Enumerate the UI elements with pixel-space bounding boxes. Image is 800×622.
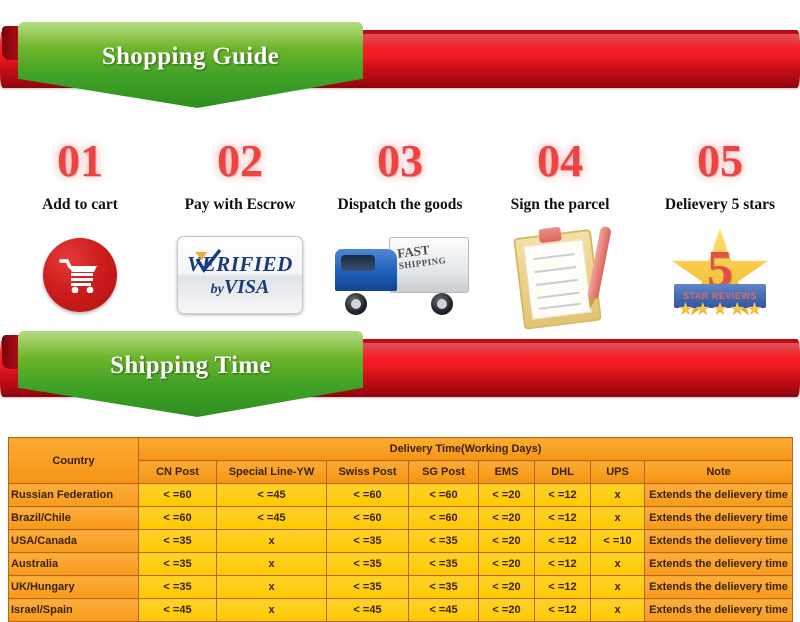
checkmark-icon bbox=[194, 249, 222, 275]
cell-country: Brazil/Chile bbox=[9, 507, 139, 530]
cell-value: < =45 bbox=[327, 599, 409, 622]
table-row: Australia< =35x< =35< =35< =20< =12xExte… bbox=[9, 553, 793, 576]
column-header-swiss-post: Swiss Post bbox=[327, 461, 409, 484]
step-04: 04 Sign the parcel bbox=[480, 132, 640, 332]
visa-brand-text: VISA bbox=[224, 276, 270, 298]
cell-value: < =60 bbox=[327, 507, 409, 530]
column-header-sg-post: SG Post bbox=[409, 461, 479, 484]
column-header-country: Country bbox=[9, 438, 139, 484]
cell-value: < =35 bbox=[327, 530, 409, 553]
mini-star-icon bbox=[713, 302, 728, 316]
clipboard-pen-icon bbox=[512, 222, 607, 328]
cell-value: < =20 bbox=[479, 484, 535, 507]
mini-stars-row bbox=[678, 302, 762, 316]
paper-line bbox=[534, 266, 576, 273]
five-star-review-icon: 5 STAR REVIEWS bbox=[668, 228, 772, 322]
cell-value: < =35 bbox=[409, 530, 479, 553]
step-label: Sign the parcel bbox=[480, 196, 640, 214]
cell-value: x bbox=[217, 599, 327, 622]
cell-note: Extends the delievery time bbox=[645, 599, 793, 622]
step-artwork bbox=[0, 226, 160, 324]
cell-note: Extends the delievery time bbox=[645, 553, 793, 576]
step-05: 05 Delievery 5 stars 5 STAR REVIEWS bbox=[640, 132, 800, 332]
paper-line bbox=[538, 292, 580, 299]
cell-note: Extends the delievery time bbox=[645, 576, 793, 599]
column-header-ems: EMS bbox=[479, 461, 535, 484]
cell-value: < =20 bbox=[479, 553, 535, 576]
truck-wheel-rear bbox=[431, 293, 453, 315]
cell-value: < =20 bbox=[479, 507, 535, 530]
step-number: 02 bbox=[160, 138, 320, 184]
cell-note: Extends the delievery time bbox=[645, 484, 793, 507]
shipping-time-table-wrap: Country Delivery Time(Working Days) CN P… bbox=[8, 437, 792, 622]
cell-value: < =12 bbox=[535, 576, 591, 599]
step-artwork: VERIFIED byVISA bbox=[160, 226, 320, 324]
step-01: 01 Add to cart bbox=[0, 132, 160, 332]
cell-value: x bbox=[591, 484, 645, 507]
cell-value: x bbox=[591, 599, 645, 622]
step-02: 02 Pay with Escrow VERIFIED byVISA bbox=[160, 132, 320, 332]
step-number: 05 bbox=[640, 138, 800, 184]
shopping-guide-title: Shopping Guide bbox=[18, 22, 363, 92]
table-header-row-1: Country Delivery Time(Working Days) bbox=[9, 438, 793, 461]
cell-value: < =35 bbox=[139, 530, 217, 553]
paper-line bbox=[539, 303, 581, 310]
cell-value: < =20 bbox=[479, 599, 535, 622]
paper-line bbox=[536, 279, 578, 286]
table-row: Israel/Spain< =45x< =45< =45< =20< =12xE… bbox=[9, 599, 793, 622]
truck-wheel-front bbox=[345, 293, 367, 315]
cell-value: < =60 bbox=[139, 484, 217, 507]
cell-value: < =45 bbox=[217, 507, 327, 530]
cell-value: < =35 bbox=[327, 576, 409, 599]
visa-by-text: by bbox=[211, 282, 224, 297]
mini-star-icon bbox=[695, 302, 710, 316]
column-header-note: Note bbox=[645, 461, 793, 484]
cell-country: Russian Federation bbox=[9, 484, 139, 507]
cell-value: < =60 bbox=[409, 484, 479, 507]
clipboard-board bbox=[513, 229, 602, 330]
column-header-group: Delivery Time(Working Days) bbox=[139, 438, 793, 461]
cell-value: < =20 bbox=[479, 576, 535, 599]
step-number: 03 bbox=[320, 138, 480, 184]
mini-star-icon bbox=[678, 302, 693, 316]
cell-value: < =35 bbox=[327, 553, 409, 576]
column-header-cn-post: CN Post bbox=[139, 461, 217, 484]
step-artwork bbox=[480, 226, 640, 324]
green-ribbon-panel: Shopping Guide bbox=[18, 22, 363, 114]
truck-fast-text: FAST SHIPPING bbox=[397, 241, 447, 273]
mini-star-icon bbox=[730, 302, 745, 316]
step-label: Dispatch the goods bbox=[320, 196, 480, 214]
table-row: Brazil/Chile< =60< =45< =60< =60< =20< =… bbox=[9, 507, 793, 530]
cell-value: < =20 bbox=[479, 530, 535, 553]
cell-value: < =60 bbox=[139, 507, 217, 530]
steps-row: 01 Add to cart 02 Pay with bbox=[0, 132, 800, 332]
cell-value: x bbox=[217, 576, 327, 599]
column-header-dhl: DHL bbox=[535, 461, 591, 484]
table-row: UK/Hungary< =35x< =35< =35< =20< =12xExt… bbox=[9, 576, 793, 599]
column-header-ups: UPS bbox=[591, 461, 645, 484]
cell-value: x bbox=[217, 553, 327, 576]
cell-value: x bbox=[217, 530, 327, 553]
cell-value: < =12 bbox=[535, 599, 591, 622]
clipboard-paper bbox=[523, 239, 592, 320]
step-label: Delievery 5 stars bbox=[640, 196, 800, 214]
delivery-truck-icon: FAST SHIPPING bbox=[331, 233, 469, 317]
cell-value: < =45 bbox=[139, 599, 217, 622]
step-number: 01 bbox=[0, 138, 160, 184]
cell-value: < =45 bbox=[217, 484, 327, 507]
mini-star-icon bbox=[747, 302, 762, 316]
step-label: Add to cart bbox=[0, 196, 160, 214]
step-artwork: 5 STAR REVIEWS bbox=[640, 226, 800, 324]
shopping-guide-banner: Shopping Guide bbox=[0, 22, 800, 94]
cell-value: < =45 bbox=[409, 599, 479, 622]
shipping-time-title: Shipping Time bbox=[18, 331, 363, 401]
verified-by-visa-icon: VERIFIED byVISA bbox=[177, 236, 303, 314]
cell-value: x bbox=[591, 553, 645, 576]
visa-by-visa-text: byVISA bbox=[211, 277, 270, 297]
step-03: 03 Dispatch the goods FAST SHIPPING bbox=[320, 132, 480, 332]
cell-note: Extends the delievery time bbox=[645, 530, 793, 553]
cell-value: < =60 bbox=[409, 507, 479, 530]
cell-value: < =35 bbox=[139, 553, 217, 576]
cell-country: USA/Canada bbox=[9, 530, 139, 553]
cell-value: < =35 bbox=[409, 576, 479, 599]
cell-value: x bbox=[591, 576, 645, 599]
table-row: USA/Canada< =35x< =35< =35< =20< =12< =1… bbox=[9, 530, 793, 553]
cell-value: < =12 bbox=[535, 484, 591, 507]
cell-value: < =12 bbox=[535, 553, 591, 576]
truck-window bbox=[341, 255, 375, 271]
cell-value: x bbox=[591, 507, 645, 530]
table-row: Russian Federation< =60< =45< =60< =60< … bbox=[9, 484, 793, 507]
shipping-time-table: Country Delivery Time(Working Days) CN P… bbox=[8, 437, 793, 622]
step-artwork: FAST SHIPPING bbox=[320, 226, 480, 324]
truck-cargo-box: FAST SHIPPING bbox=[389, 237, 469, 293]
star-ribbon-text: STAR REVIEWS bbox=[683, 291, 757, 301]
step-label: Pay with Escrow bbox=[160, 196, 320, 214]
column-header-special-line-yw: Special Line-YW bbox=[217, 461, 327, 484]
shopping-guide-infographic: Shopping Guide 01 Add to cart bbox=[0, 0, 800, 589]
paper-line bbox=[533, 253, 575, 260]
cell-country: Australia bbox=[9, 553, 139, 576]
clipboard-clamp bbox=[538, 227, 562, 244]
cell-country: Israel/Spain bbox=[9, 599, 139, 622]
cell-country: UK/Hungary bbox=[9, 576, 139, 599]
cell-value: < =35 bbox=[139, 576, 217, 599]
green-ribbon-panel: Shipping Time bbox=[18, 331, 363, 423]
cell-note: Extends the delievery time bbox=[645, 507, 793, 530]
cell-value: < =12 bbox=[535, 530, 591, 553]
cell-value: < =60 bbox=[327, 484, 409, 507]
cell-value: < =10 bbox=[591, 530, 645, 553]
step-number: 04 bbox=[480, 138, 640, 184]
table-body: Russian Federation< =60< =45< =60< =60< … bbox=[9, 484, 793, 622]
shopping-cart-icon bbox=[43, 238, 117, 312]
cell-value: < =35 bbox=[409, 553, 479, 576]
cell-value: < =12 bbox=[535, 507, 591, 530]
shipping-time-banner: Shipping Time bbox=[0, 331, 800, 403]
